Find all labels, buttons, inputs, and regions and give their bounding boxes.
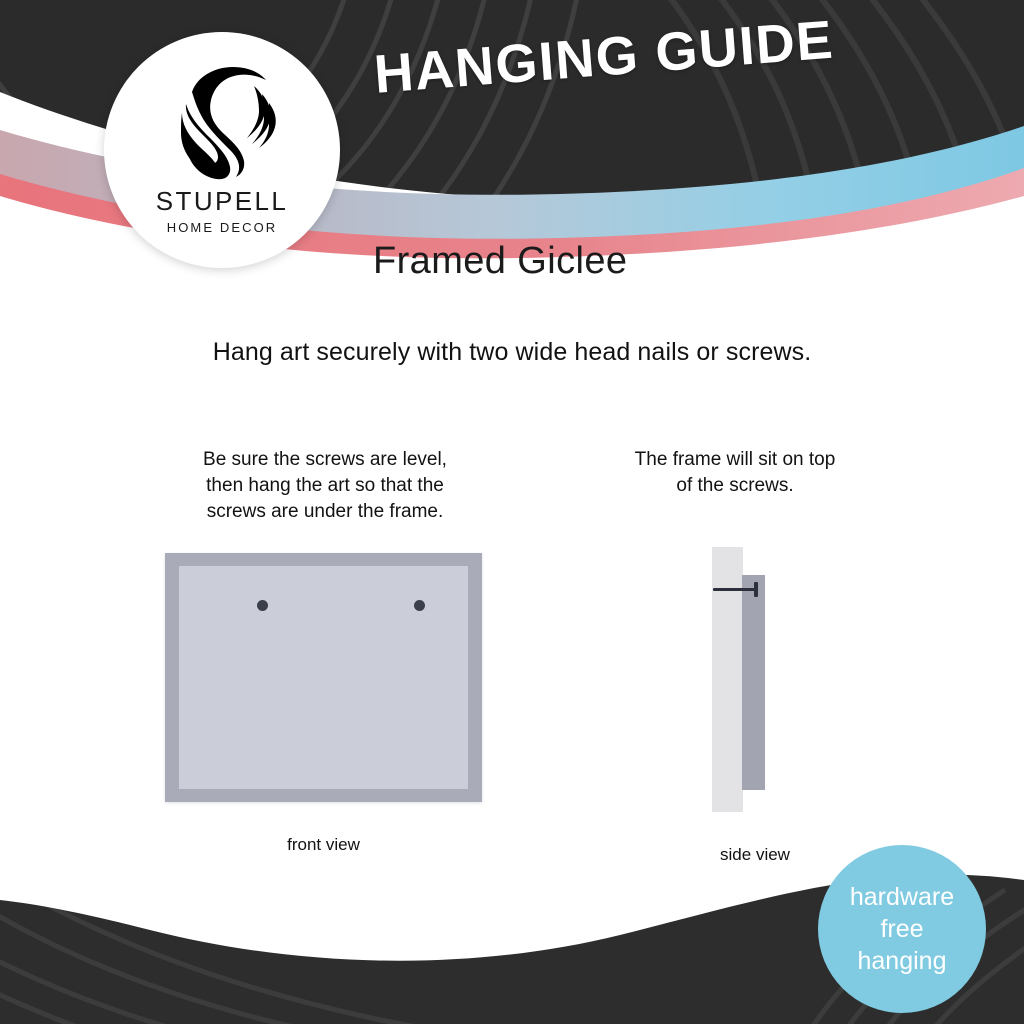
front-view-caption: Be sure the screws are level, then hang …: [145, 447, 505, 525]
product-type-heading: Framed Giclee: [373, 240, 627, 283]
stupell-swoosh-logo-icon: [156, 58, 288, 180]
screw-dot-right-icon: [414, 600, 425, 611]
front-view-caption-line-3: screws are under the frame.: [145, 499, 505, 525]
side-view-wall: [712, 547, 743, 812]
badge-line-3: hanging: [858, 945, 947, 977]
main-instruction-text: Hang art securely with two wide head nai…: [0, 338, 1024, 367]
front-view-diagram: [165, 553, 482, 802]
hardware-free-hanging-badge: hardware free hanging: [818, 845, 986, 1013]
front-view-caption-line-1: Be sure the screws are level,: [145, 447, 505, 473]
side-view-diagram: [700, 540, 810, 825]
brand-tagline: HOME DECOR: [167, 220, 278, 235]
badge-line-1: hardware: [850, 881, 954, 913]
front-view-caption-line-2: then hang the art so that the: [145, 473, 505, 499]
screw-head-icon: [754, 582, 758, 597]
hanging-guide-page: STUPELL HOME DECOR HANGING GUIDE Framed …: [0, 0, 1024, 1024]
page-title: HANGING GUIDE: [372, 9, 836, 106]
front-view-mat: [179, 566, 468, 789]
screw-shaft-icon: [713, 588, 757, 591]
side-view-caption-line-1: The frame will sit on top: [585, 447, 885, 473]
brand-name: STUPELL: [156, 186, 288, 217]
screw-dot-left-icon: [257, 600, 268, 611]
brand-logo-badge: STUPELL HOME DECOR: [104, 32, 340, 268]
side-view-caption-line-2: of the screws.: [585, 473, 885, 499]
side-view-label: side view: [655, 845, 855, 865]
badge-line-2: free: [880, 913, 923, 945]
side-view-caption: The frame will sit on top of the screws.: [585, 447, 885, 499]
side-view-frame: [742, 575, 765, 790]
front-view-label: front view: [165, 835, 482, 855]
